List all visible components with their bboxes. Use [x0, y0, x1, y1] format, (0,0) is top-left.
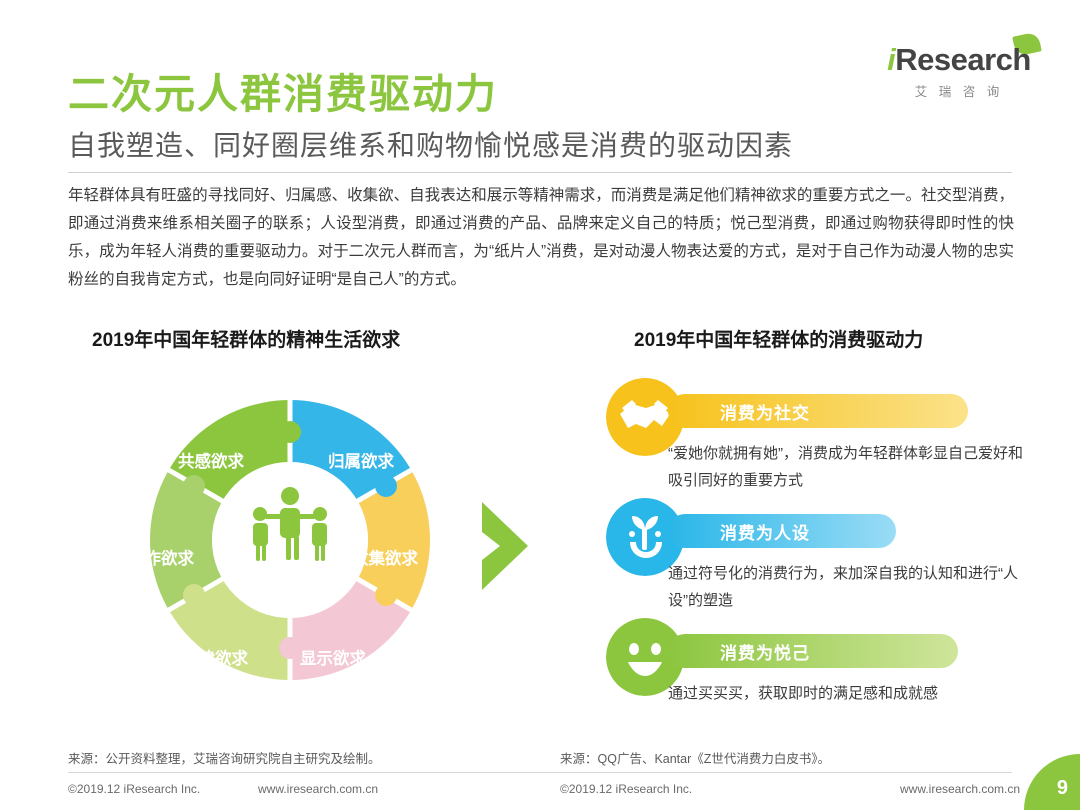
page-subtitle: 自我塑造、同好圈层维系和购物愉悦感是消费的驱动因素 [68, 124, 793, 164]
iresearch-logo: iResearch 艾 瑞 咨 询 [884, 44, 1034, 100]
source-note-left: 来源：公开资料整理，艾瑞咨询研究院自主研究及绘制。 [68, 748, 381, 767]
driver-label-selfpleasure: 消费为悦己 [668, 639, 810, 664]
footer-divider [68, 772, 1012, 773]
driver-pill-selfpleasure: 消费为悦己 [668, 634, 958, 668]
right-chart-title: 2019年中国年轻群体的消费驱动力 [634, 325, 923, 352]
driver-label-social: 消费为社交 [668, 399, 810, 424]
footer-url-right: www.iresearch.com.cn [900, 782, 1020, 796]
page-title: 二次元人群消费驱动力 [68, 60, 498, 120]
donut-label-chuangzuo: 创作欲求 [128, 545, 194, 569]
spiritual-needs-donut: 共感欲求 归属欲求 收集欲求 显示欲求 自律欲求 创作欲求 [140, 390, 440, 690]
footer-copyright-right: ©2019.12 iResearch Inc. [560, 782, 692, 796]
donut-label-zilv: 自律欲求 [182, 645, 248, 669]
footer-copyright-left: ©2019.12 iResearch Inc. [68, 782, 200, 796]
footer-url-left: www.iresearch.com.cn [258, 782, 378, 796]
driver-label-persona: 消费为人设 [668, 519, 810, 544]
logo-subtitle: 艾 瑞 咨 询 [884, 81, 1034, 100]
donut-label-guishu: 归属欲求 [328, 448, 394, 472]
chevron-right-icon [478, 498, 536, 594]
donut-label-shouji: 收集欲求 [352, 545, 418, 569]
donut-label-xianshi: 显示欲求 [300, 645, 366, 669]
body-paragraph: 年轻群体具有旺盛的寻找同好、归属感、收集欲、自我表达和展示等精神需求，而消费是满… [68, 182, 1014, 294]
driver-pill-persona: 消费为人设 [668, 514, 896, 548]
driver-desc-social: “爱她你就拥有她”，消费成为年轻群体彰显自己爱好和吸引同好的重要方式 [668, 440, 1030, 494]
donut-label-gongan: 共感欲求 [178, 448, 244, 472]
left-chart-title: 2019年中国年轻群体的精神生活欲求 [92, 325, 400, 352]
source-note-right: 来源：QQ广告、Kantar《Z世代消费力白皮书》。 [560, 748, 830, 767]
driver-pill-social: 消费为社交 [668, 394, 968, 428]
driver-desc-selfpleasure: 通过买买买，获取即时的满足感和成就感 [668, 680, 1030, 707]
logo-research-text: Research [895, 42, 1031, 77]
page-number-badge [1024, 754, 1080, 810]
logo-wordmark: iResearch [884, 44, 1034, 75]
header-divider [68, 172, 1012, 173]
driver-desc-persona: 通过符号化的消费行为，来加深自我的认知和进行“人设”的塑造 [668, 560, 1030, 614]
page-number: 9 [1057, 777, 1068, 800]
